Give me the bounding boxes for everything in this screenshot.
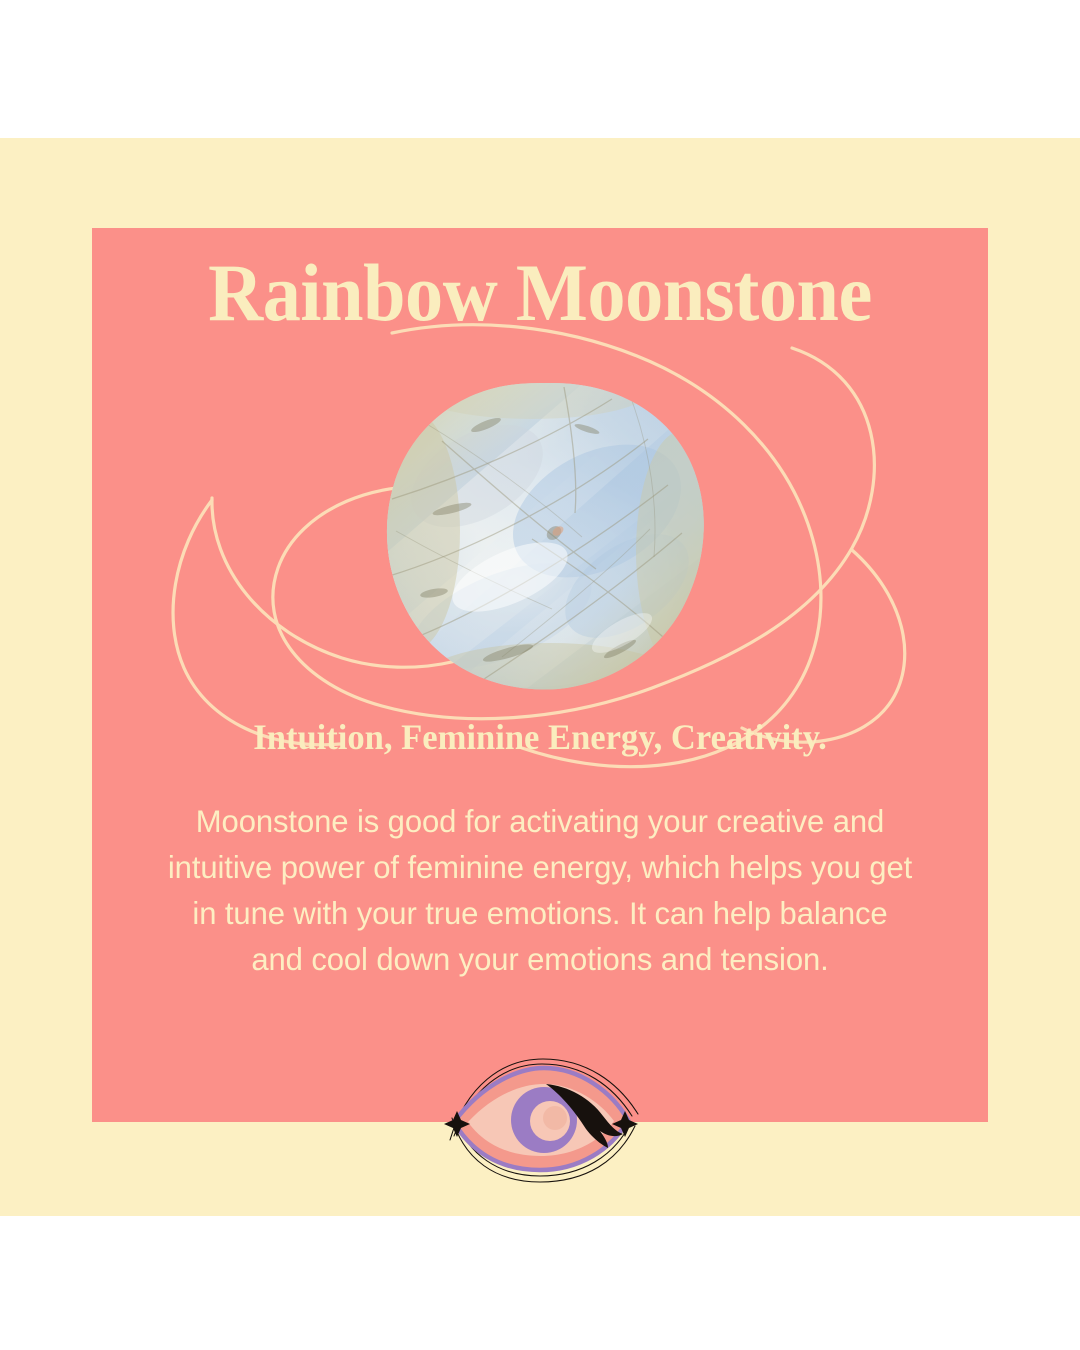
description-line: Moonstone is good for activating your cr… <box>107 798 974 844</box>
poster-canvas: Rainbow Moonstone <box>0 0 1080 1350</box>
eye-pupil-highlight <box>543 1106 567 1130</box>
description-line: and cool down your emotions and tension. <box>107 936 974 982</box>
description-line: in tune with your true emotions. It can … <box>107 890 974 936</box>
description-paragraph: Moonstone is good for activating your cr… <box>107 798 974 982</box>
description-line: intuitive power of feminine energy, whic… <box>107 844 974 890</box>
mystic-eye-logo <box>440 1058 640 1184</box>
page-title: Rainbow Moonstone <box>123 250 956 336</box>
coral-content-card: Rainbow Moonstone <box>92 228 988 1122</box>
keywords-subtitle: Intuition, Feminine Energy, Creativity. <box>110 716 970 758</box>
rainbow-moonstone-image <box>382 381 707 691</box>
